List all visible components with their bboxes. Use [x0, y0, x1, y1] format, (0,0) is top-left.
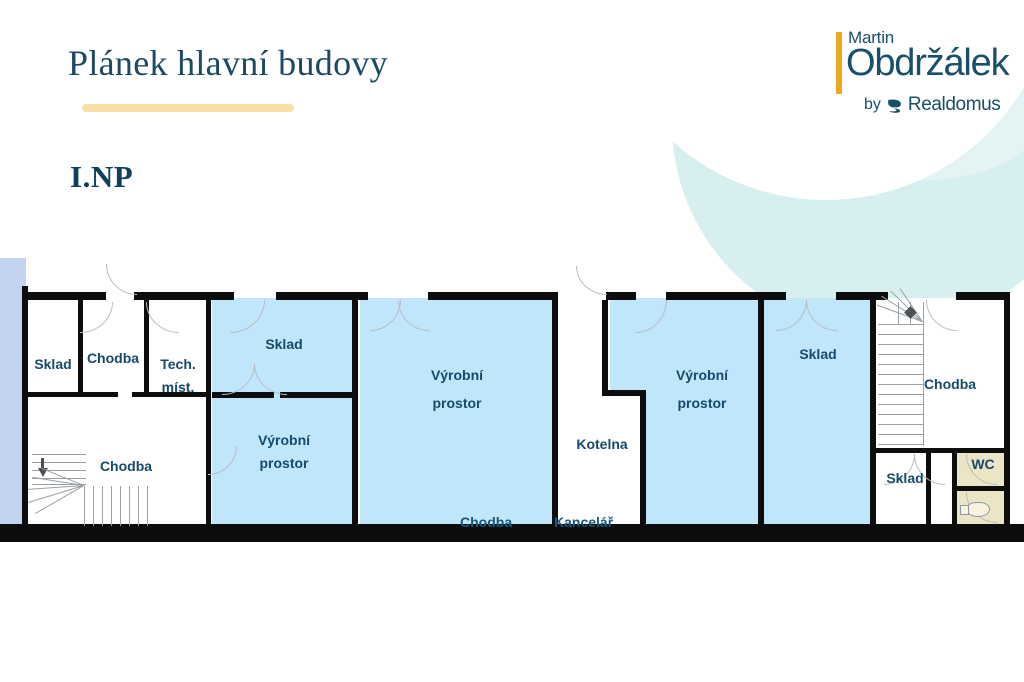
room-label-chodba-1: Chodba: [82, 350, 144, 367]
title-underline-rule: [82, 104, 294, 112]
logo-brand-row: by Realdomus: [864, 94, 1000, 116]
room-label-kancelar: Kancelář: [554, 514, 613, 530]
room-label-wc: WC: [958, 456, 1008, 473]
room-label-chodba-2: Chodba: [66, 458, 186, 475]
wall-sklad2-bottom-right: [280, 392, 356, 398]
room-label-vyrobni-2-line2: prostor: [392, 395, 522, 412]
realdomus-swirl-icon: [885, 96, 904, 115]
door-arc-entry-top: [106, 264, 137, 295]
room-area-kotelna-lower: [558, 392, 644, 528]
room-label-vyrobni-2-line1: Výrobní: [392, 367, 522, 384]
wall-outer-top-seg-3: [220, 292, 234, 300]
wall-outer-top-seg-5: [428, 292, 558, 300]
room-label-vyrobni-3-line1: Výrobní: [640, 367, 764, 384]
staircase-left-fan: [32, 485, 86, 527]
room-label-tech-line1: Tech.: [150, 356, 206, 373]
wall-vyrobni3-right: [758, 300, 764, 530]
room-label-sklad-1: Sklad: [28, 356, 78, 373]
toilet-bowl-icon: [966, 502, 990, 517]
wall-outer-top-seg-2: [134, 292, 220, 300]
logo-accent-bar: [836, 32, 842, 94]
room-label-vyrobni-1-line1: Výrobní: [222, 432, 346, 449]
wall-outer-top-seg-4: [276, 292, 368, 300]
wall-outer-top-seg-6: [606, 292, 636, 300]
wall-kotelna-right-upper: [602, 300, 608, 396]
logo-by-text: by: [864, 96, 881, 114]
toilet-tank-icon: [960, 505, 969, 515]
wall-outer-top-seg-8: [764, 292, 786, 300]
room-label-sklad-2: Sklad: [234, 336, 334, 353]
room-area-vyrobni-2: [360, 298, 556, 528]
logo-brand-name: Realdomus: [908, 94, 1001, 116]
room-label-chodba-bottom: Chodba: [460, 514, 512, 530]
company-logo: Martin Obdržálek by Realdomus: [836, 26, 1008, 122]
wall-sklad3-right: [870, 300, 876, 530]
staircase-left-vertical-treads: [84, 486, 148, 526]
room-label-chodba-3: Chodba: [898, 376, 1002, 393]
wall-outer-top-seg-10: [956, 292, 1010, 300]
floor-level-label: I.NP: [70, 159, 133, 195]
door-arc-kotelna-top: [576, 266, 607, 295]
wall-outer-left: [22, 292, 28, 530]
wall-outer-right: [1004, 292, 1010, 530]
room-label-kotelna: Kotelna: [560, 436, 644, 453]
room-area-sklad-3: [764, 298, 872, 528]
wall-chodba3-bottom: [876, 448, 1010, 453]
page-title: Plánek hlavní budovy: [68, 42, 388, 84]
logo-last-name: Obdržálek: [846, 44, 1008, 82]
wall-section2-right: [352, 300, 358, 530]
wall-wc-split: [956, 486, 1010, 491]
wall-outer-top-seg-7: [666, 292, 764, 300]
room-label-sklad-3: Sklad: [766, 346, 870, 363]
wall-section1-right: [206, 300, 211, 530]
room-label-sklad-4: Sklad: [880, 470, 930, 487]
room-label-vyrobni-1-line2: prostor: [222, 455, 346, 472]
wall-sklad1-bottom: [28, 392, 118, 397]
wall-kotelna-left: [552, 300, 558, 530]
room-label-tech-line2: míst.: [150, 379, 206, 396]
floorplan-i-np: Sklad Chodba Tech. míst. Chodba Sklad Vý…: [0, 256, 1024, 536]
wall-outer-top-seg-1: [22, 292, 106, 300]
room-area-vyrobni-3: [646, 298, 760, 528]
room-label-vyrobni-3-line2: prostor: [640, 395, 764, 412]
